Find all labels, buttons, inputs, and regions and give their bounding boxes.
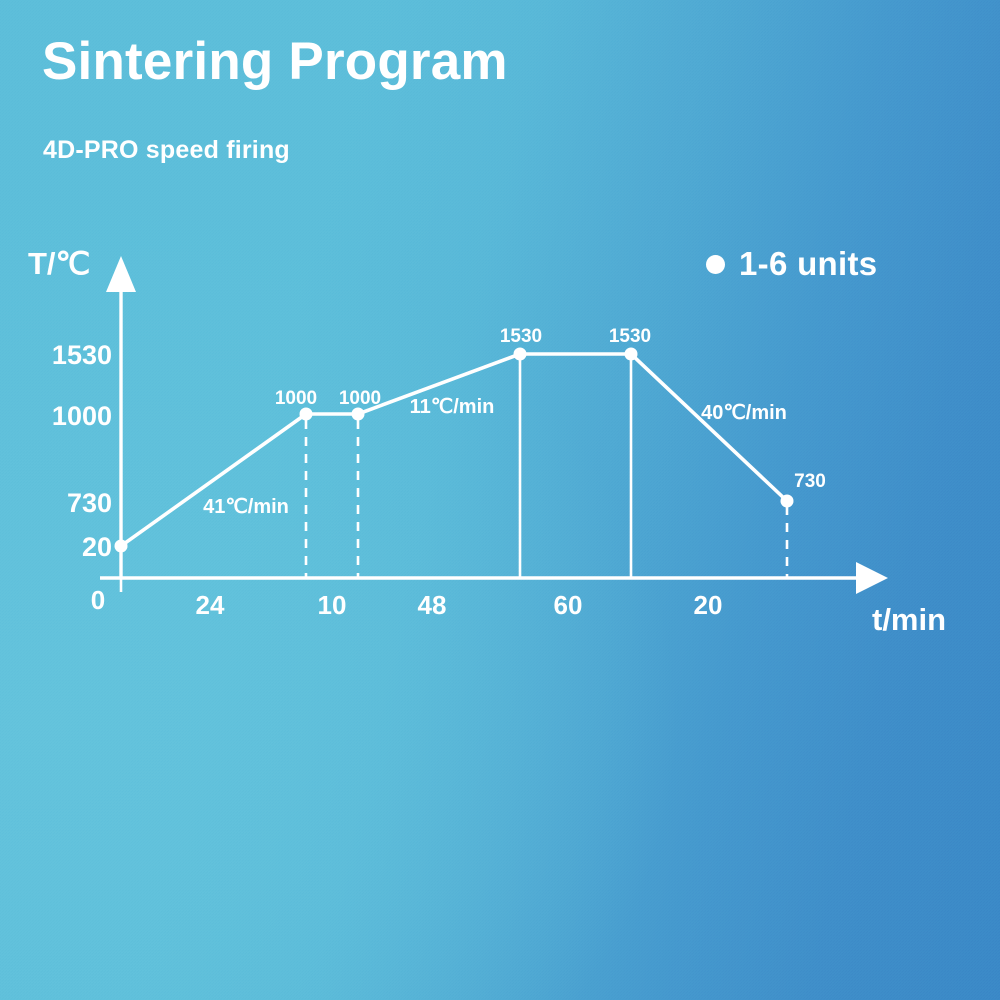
point-label-730: 730 bbox=[794, 471, 826, 492]
rate-label-cooling-40: 40℃/min bbox=[701, 402, 787, 424]
sintering-program-chart: T/℃ t/min 0 1530 1000 730 20 24 10 48 60… bbox=[0, 0, 1000, 1000]
data-point-1530-start bbox=[514, 348, 527, 361]
x-axis-arrowhead bbox=[856, 562, 888, 594]
axes-group bbox=[100, 256, 888, 594]
data-point-1530-end bbox=[625, 348, 638, 361]
data-point-start-20 bbox=[115, 540, 128, 553]
x-tick-label-20: 20 bbox=[694, 590, 723, 620]
y-axis-arrowhead bbox=[106, 256, 136, 292]
x-tick-label-24: 24 bbox=[196, 590, 225, 620]
data-point-end-730 bbox=[781, 495, 794, 508]
x-axis-title: t/min bbox=[872, 602, 946, 637]
y-tick-label-730: 730 bbox=[67, 488, 112, 518]
y-axis-title: T/℃ bbox=[28, 246, 90, 281]
x-tick-label-10: 10 bbox=[318, 590, 347, 620]
x-tick-label-48: 48 bbox=[418, 590, 447, 620]
rate-label-heating-11: 11℃/min bbox=[410, 396, 495, 418]
point-label-1530-end: 1530 bbox=[609, 326, 651, 347]
origin-label: 0 bbox=[91, 585, 105, 615]
point-label-1530-start: 1530 bbox=[500, 326, 542, 347]
data-point-1000-start bbox=[300, 408, 313, 421]
y-tick-label-1530: 1530 bbox=[52, 340, 112, 370]
x-tick-label-60: 60 bbox=[554, 590, 583, 620]
point-label-1000-start: 1000 bbox=[275, 388, 317, 409]
data-point-1000-end bbox=[352, 408, 365, 421]
y-tick-label-20: 20 bbox=[82, 532, 112, 562]
y-tick-label-1000: 1000 bbox=[52, 401, 112, 431]
poster-canvas: Sintering Program 4D-PRO speed firing 1-… bbox=[0, 0, 1000, 1000]
rate-label-heating-41: 41℃/min bbox=[203, 496, 289, 518]
point-label-1000-end: 1000 bbox=[339, 388, 381, 409]
